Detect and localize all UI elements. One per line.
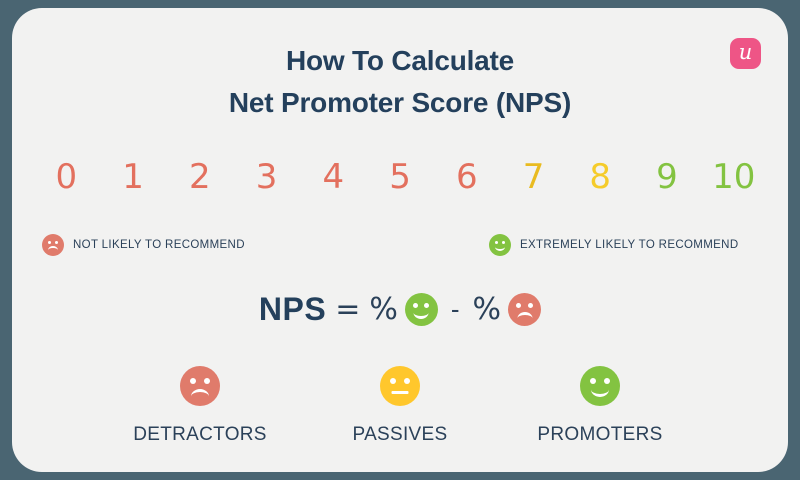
formula-minus-sign: - xyxy=(438,294,473,325)
scale-number-7[interactable]: 7 xyxy=(500,160,567,194)
sad-face-icon xyxy=(180,366,220,406)
scale-number-5[interactable]: 5 xyxy=(367,160,434,194)
anchor-extremely-likely: EXTREMELY LIKELY TO RECOMMEND xyxy=(489,234,739,256)
category-label: PASSIVES xyxy=(353,424,448,446)
scale-number-0[interactable]: 0 xyxy=(33,160,100,194)
title-line-2: Net Promoter Score (NPS) xyxy=(12,82,788,124)
formula-percent-1: % xyxy=(369,292,405,327)
happy-face-icon xyxy=(489,234,511,256)
sad-face-icon xyxy=(508,293,541,326)
scale-number-3[interactable]: 3 xyxy=(233,160,300,194)
sad-face-icon xyxy=(42,234,64,256)
formula-equals-sign: = xyxy=(326,292,369,327)
scale-number-6[interactable]: 6 xyxy=(433,160,500,194)
scale-number-9[interactable]: 9 xyxy=(634,160,701,194)
category-promoters: PROMOTERS xyxy=(500,366,700,446)
scale-number-1[interactable]: 1 xyxy=(100,160,167,194)
scale-number-4[interactable]: 4 xyxy=(300,160,367,194)
formula-nps-label: NPS xyxy=(259,291,326,328)
scale-number-8[interactable]: 8 xyxy=(567,160,634,194)
title-line-1: How To Calculate xyxy=(12,40,788,82)
category-passives: PASSIVES xyxy=(300,366,500,446)
nps-rating-scale: 012345678910 xyxy=(33,160,767,194)
scale-number-2[interactable]: 2 xyxy=(166,160,233,194)
nps-formula: NPS = % - % xyxy=(12,291,788,328)
category-label: PROMOTERS xyxy=(537,424,662,446)
page-title: How To Calculate Net Promoter Score (NPS… xyxy=(12,40,788,124)
happy-face-icon xyxy=(580,366,620,406)
info-card: u How To Calculate Net Promoter Score (N… xyxy=(12,8,788,472)
nps-category-legend: DETRACTORSPASSIVESPROMOTERS xyxy=(100,366,700,446)
formula-percent-2: % xyxy=(473,292,509,327)
anchor-extremely-likely-label: EXTREMELY LIKELY TO RECOMMEND xyxy=(520,239,739,251)
anchor-not-likely: NOT LIKELY TO RECOMMEND xyxy=(42,234,245,256)
scale-number-10[interactable]: 10 xyxy=(700,160,767,194)
happy-face-icon xyxy=(405,293,438,326)
category-detractors: DETRACTORS xyxy=(100,366,300,446)
anchor-not-likely-label: NOT LIKELY TO RECOMMEND xyxy=(73,239,245,251)
neutral-face-icon xyxy=(380,366,420,406)
category-label: DETRACTORS xyxy=(133,424,267,446)
